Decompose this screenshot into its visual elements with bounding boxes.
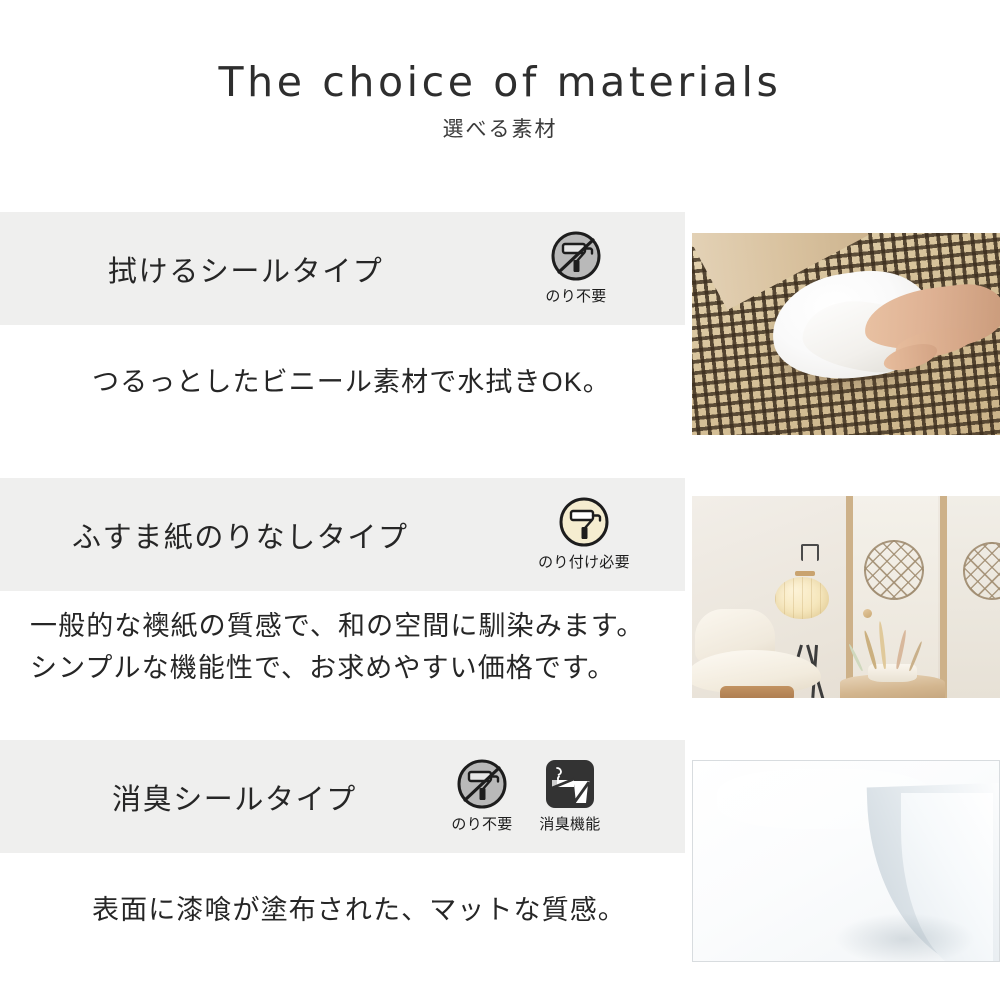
lamp-cap [795,571,815,576]
paper-lantern-shade [775,577,829,619]
badge-no-glue-label: のり不要 [545,285,606,306]
section-2-title: ふすま紙のりなしタイプ [72,514,409,556]
photo-japanese-interior [692,496,1000,698]
section-fusuma-paper-no-glue-type: ふすま紙のりなしタイプ のり付け必要 一般的な襖紙の質感で、和の空間に馴染みます… [0,478,1000,738]
fusuma-frame [940,496,947,698]
section-1-title: 拭けるシールタイプ [108,248,383,290]
deodorizing-function-icon [544,758,596,810]
badge-glue-required-label: のり付け必要 [538,551,630,572]
badge-no-glue-label: のり不要 [451,813,512,834]
photo-white-curling-sheet [692,760,1000,962]
glue-required-roller-icon [558,496,610,548]
section-3-title: 消臭シールタイプ [112,776,357,818]
no-glue-roller-icon [456,758,508,810]
sheet-shadow [834,913,975,962]
page-subtitle: 選べる素材 [0,113,1000,143]
page-title: The choice of materials [0,58,1000,106]
section-wipeable-seal-type: 拭けるシールタイプ のり不要 つるっとしたビニール素材で水拭きOK。 [0,212,1000,462]
section-deodorizing-seal-type: 消臭シールタイプ のり不要 [0,740,1000,1000]
fusuma-knob [863,609,872,618]
section-2-description-line-1: 一般的な襖紙の質感で、和の空間に馴染みます。 [30,606,644,647]
section-3-badges: のり不要 消臭機能 [446,758,606,834]
badge-deodorizing-label: 消臭機能 [539,813,600,834]
badge-no-glue: のり不要 [446,758,518,834]
fusuma-frame [846,496,853,698]
no-glue-roller-icon [550,230,602,282]
page-header: The choice of materials 選べる素材 [0,0,1000,200]
section-1-description: つるっとしたビニール素材で水拭きOK。 [92,362,611,403]
badge-no-glue: のり不要 [540,230,612,306]
photo-towel-wiping-cane [692,233,1000,435]
badge-glue-required: のり付け必要 [524,496,644,572]
section-3-description: 表面に漆喰が塗布された、マットな質感。 [92,890,626,931]
materials-choice-page: The choice of materials 選べる素材 拭けるシールタイプ [0,0,1000,1000]
lamp-handle [801,544,819,561]
section-2-badges: のり付け必要 [524,496,644,572]
section-1-badges: のり不要 [540,230,612,306]
lantern-ribs [775,577,829,619]
badge-deodorizing: 消臭機能 [534,758,606,834]
section-2-description-line-2: シンプルな機能性で、お求めやすい価格です。 [30,648,616,689]
armchair-wood-base [720,686,794,698]
